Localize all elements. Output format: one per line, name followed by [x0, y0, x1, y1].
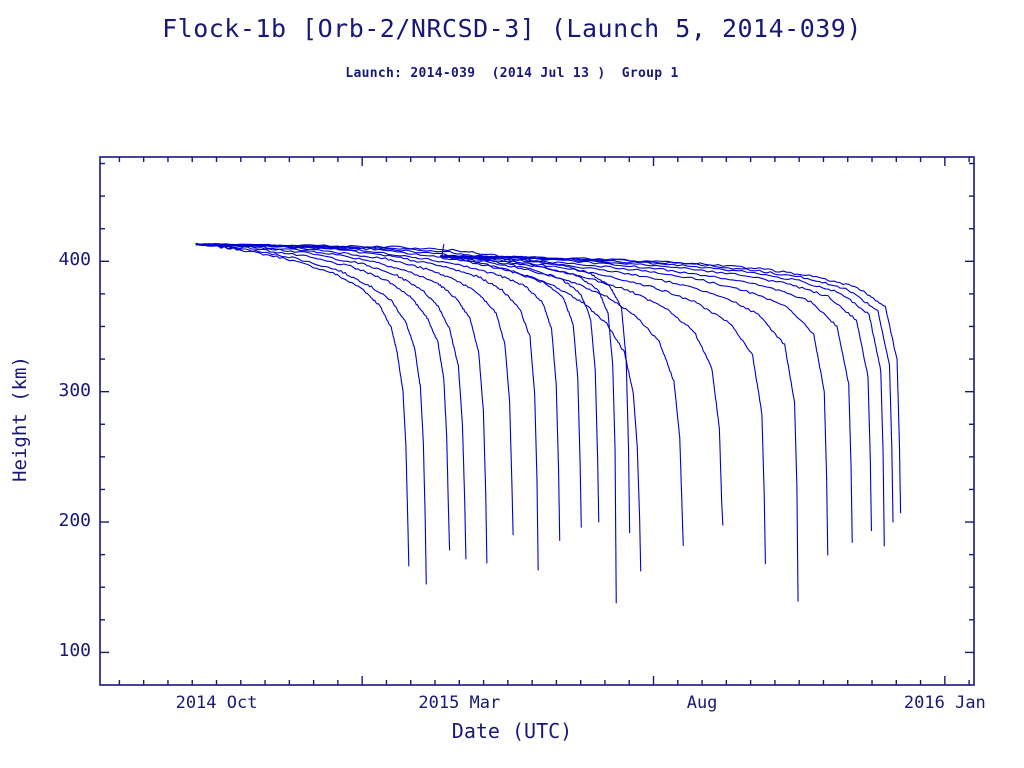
y-tick-label: 200	[36, 510, 91, 531]
plot-frame	[100, 157, 974, 685]
decay-curve	[196, 244, 630, 533]
y-tick-label: 400	[36, 249, 91, 270]
x-tick-label: 2014 Oct	[137, 693, 297, 713]
decay-curve	[196, 244, 513, 535]
decay-curve	[196, 244, 560, 541]
x-tick-label: Aug	[622, 693, 782, 713]
decay-curve	[196, 243, 581, 527]
decay-curve	[196, 244, 449, 550]
decay-curve	[441, 256, 641, 571]
decay-curve	[441, 256, 798, 602]
decay-curve	[196, 244, 409, 566]
decay-curve	[196, 244, 616, 603]
x-axis-title: Date (UTC)	[0, 719, 1024, 743]
decay-curve	[441, 255, 872, 530]
decay-curve	[196, 244, 599, 522]
decay-curve	[441, 255, 884, 546]
y-axis-title: Height (km)	[9, 309, 31, 529]
x-tick-label: 2015 Mar	[379, 693, 539, 713]
y-tick-label: 100	[36, 640, 91, 661]
y-tick-label: 300	[36, 380, 91, 401]
decay-plot	[0, 0, 1024, 768]
decay-curve	[196, 244, 426, 584]
x-tick-label: 2016 Jan	[865, 693, 1024, 713]
decay-curve	[196, 245, 487, 564]
chart-page: Flock-1b [Orb-2/NRCSD-3] (Launch 5, 2014…	[0, 0, 1024, 768]
